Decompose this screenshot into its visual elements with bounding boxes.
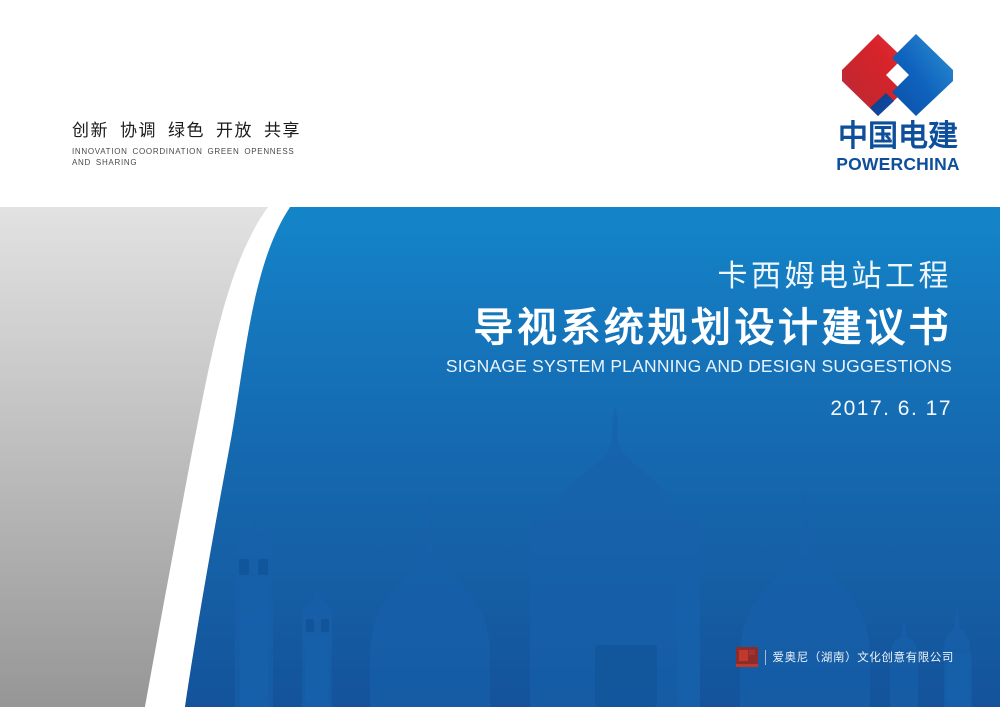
slogan-word-innovation: 创新	[72, 121, 109, 140]
credit-divider	[765, 650, 766, 665]
cover-date: 2017. 6. 17	[446, 397, 952, 421]
page-title-english: SIGNAGE SYSTEM PLANNING AND DESIGN SUGGE…	[446, 356, 952, 377]
slogan-chinese: 创新协调绿色开放共享	[72, 122, 301, 141]
project-name: 卡西姆电站工程	[446, 258, 952, 296]
slide-header: 创新协调绿色开放共享 INNOVATION COORDINATION GREEN…	[0, 0, 1000, 207]
presentation-cover-slide: 创新协调绿色开放共享 INNOVATION COORDINATION GREEN…	[0, 0, 1000, 707]
company-credit: 爱奥尼（湖南）文化创意有限公司	[736, 647, 955, 667]
slogan-english: INNOVATION COORDINATION GREEN OPENNESS A…	[72, 146, 300, 169]
logo-english-name: POWERCHINA	[824, 156, 972, 174]
slogan-english-line-2: AND SHARING	[72, 157, 300, 169]
credit-company-name: 爱奥尼（湖南）文化创意有限公司	[773, 649, 955, 665]
slogan-word-sharing: 共享	[264, 121, 301, 140]
slogan-word-coordination: 协调	[120, 121, 157, 140]
corporate-slogan-block: 创新协调绿色开放共享 INNOVATION COORDINATION GREEN…	[72, 122, 301, 169]
logo-chinese-name: 中国电建	[824, 122, 972, 152]
powerchina-logo: 中国电建 POWERCHINA	[824, 32, 972, 172]
slogan-word-openness: 开放	[216, 121, 253, 140]
slogan-english-line-1: INNOVATION COORDINATION GREEN OPENNESS	[72, 146, 300, 158]
cover-title-block: 卡西姆电站工程 导视系统规划设计建议书 SIGNAGE SYSTEM PLANN…	[446, 258, 952, 421]
ionic-culture-logo-icon	[736, 647, 758, 667]
slogan-word-green: 绿色	[168, 121, 205, 140]
page-title: 导视系统规划设计建议书	[446, 304, 952, 353]
powerchina-diamond-mark-icon	[840, 32, 956, 118]
